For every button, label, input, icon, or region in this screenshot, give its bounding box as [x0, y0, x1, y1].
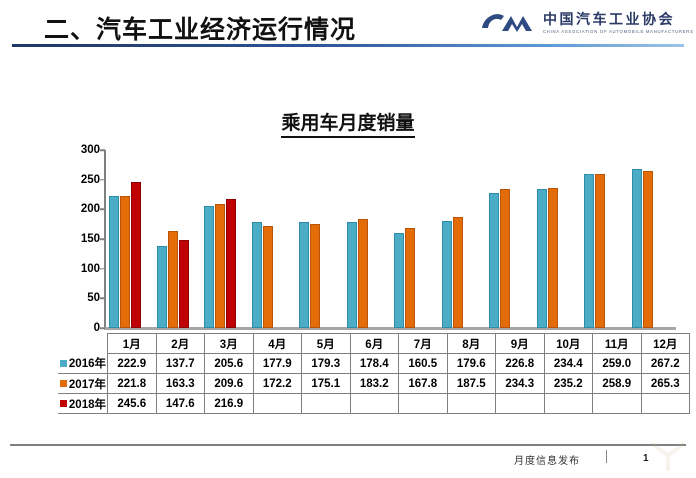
table-header-month: 6月 — [350, 334, 399, 354]
bar-group — [439, 150, 487, 328]
table-header-month: 9月 — [496, 334, 545, 354]
chart-data-table: 1月2月3月4月5月6月7月8月9月10月11月12月 2016年222.913… — [58, 333, 690, 414]
table-row: 2018年245.6147.6216.9 — [58, 394, 690, 414]
table-cell-value — [544, 394, 593, 414]
table-cell-value: 172.2 — [253, 374, 302, 394]
logo-chinese-name: 中国汽车工业协会 — [543, 12, 691, 27]
table-cell-value — [350, 394, 399, 414]
table-header-month: 3月 — [205, 334, 254, 354]
bar-groups — [106, 150, 676, 328]
table-header-month: 8月 — [447, 334, 496, 354]
bar-2016年-3月[interactable] — [204, 206, 214, 328]
table-cell-value: 179.6 — [447, 354, 496, 374]
bar-2016年-2月[interactable] — [157, 246, 167, 328]
bar-2017年-2月[interactable] — [168, 231, 178, 328]
table-cell-value: 245.6 — [108, 394, 157, 414]
bar-2017年-9月[interactable] — [500, 189, 510, 328]
footer-separator — [606, 450, 607, 463]
table-header-month: 4月 — [253, 334, 302, 354]
bar-2017年-8月[interactable] — [453, 217, 463, 328]
legend-series-label: 2018年 — [69, 399, 106, 411]
table-cell-value: 258.9 — [593, 374, 642, 394]
table-cell-value: 209.6 — [205, 374, 254, 394]
legend-swatch-icon — [60, 360, 67, 367]
table-header-month: 12月 — [641, 334, 690, 354]
table-cell-value — [447, 394, 496, 414]
association-logo: 中国汽车工业协会 CHINA ASSOCIATION OF AUTOMOBILE… — [480, 9, 691, 37]
table-cell-value: 267.2 — [641, 354, 690, 374]
table-header-month: 10月 — [544, 334, 593, 354]
table-cell-value: 187.5 — [447, 374, 496, 394]
table-cell-value: 265.3 — [641, 374, 690, 394]
slide-canvas: 二、汽车工业经济运行情况 中国汽车工业协会 CHINA ASSOCIATION … — [0, 0, 696, 478]
bar-group — [391, 150, 439, 328]
table-cell-value: 167.8 — [399, 374, 448, 394]
table-cell-value: 179.3 — [302, 354, 351, 374]
table-cell-value: 178.4 — [350, 354, 399, 374]
table-cell-value: 147.6 — [156, 394, 205, 414]
bar-group — [154, 150, 202, 328]
bar-2018年-1月[interactable] — [131, 182, 141, 328]
table-cell-value: 160.5 — [399, 354, 448, 374]
table-cell-value — [399, 394, 448, 414]
bar-2016年-10月[interactable] — [537, 189, 547, 328]
legend-item-2017年[interactable]: 2017年 — [58, 374, 108, 394]
table-row: 2016年222.9137.7205.6177.9179.3178.4160.5… — [58, 354, 690, 374]
table-cell-value — [253, 394, 302, 414]
legend-swatch-icon — [60, 400, 67, 407]
bar-group — [629, 150, 677, 328]
page-number: 1 — [643, 453, 649, 464]
bar-group — [534, 150, 582, 328]
bar-2016年-7月[interactable] — [394, 233, 404, 328]
table-cell-value: 221.8 — [108, 374, 157, 394]
table-cell-value: 175.1 — [302, 374, 351, 394]
y-axis-labels: 050100150200250300 — [60, 146, 100, 328]
legend-item-2016年[interactable]: 2016年 — [58, 354, 108, 374]
bar-group — [106, 150, 154, 328]
y-axis-tick-label: 300 — [81, 144, 100, 156]
y-axis-tick-label: 100 — [81, 263, 100, 275]
bar-2017年-4月[interactable] — [263, 226, 273, 328]
logo-english-name: CHINA ASSOCIATION OF AUTOMOBILE MANUFACT… — [543, 29, 694, 34]
legend-header-cell — [58, 334, 108, 354]
bar-2017年-6月[interactable] — [358, 219, 368, 328]
bar-group — [249, 150, 297, 328]
bar-2017年-7月[interactable] — [405, 228, 415, 328]
bar-2017年-12月[interactable] — [643, 171, 653, 328]
table-row: 2017年221.8163.3209.6172.2175.1183.2167.8… — [58, 374, 690, 394]
y-axis-tick-label: 250 — [81, 174, 100, 186]
table-cell-value: 163.3 — [156, 374, 205, 394]
table-cell-value — [496, 394, 545, 414]
legend-item-2018年[interactable]: 2018年 — [58, 394, 108, 414]
legend-series-label: 2017年 — [69, 379, 106, 391]
bar-2017年-5月[interactable] — [310, 224, 320, 328]
bar-group — [296, 150, 344, 328]
y-axis-tick-mark — [100, 238, 105, 240]
table-header-month: 7月 — [399, 334, 448, 354]
watermark-icon — [646, 437, 690, 475]
table-header-row: 1月2月3月4月5月6月7月8月9月10月11月12月 — [58, 334, 690, 354]
table-cell-value: 183.2 — [350, 374, 399, 394]
y-axis-tick-mark — [100, 298, 105, 300]
bar-2017年-11月[interactable] — [595, 174, 605, 328]
bar-2016年-11月[interactable] — [584, 174, 594, 328]
table-cell-value: 205.6 — [205, 354, 254, 374]
y-axis-tick-mark — [100, 268, 105, 270]
bar-2016年-12月[interactable] — [632, 169, 642, 328]
legend-swatch-icon — [60, 380, 67, 387]
bar-group — [201, 150, 249, 328]
bar-2016年-1月[interactable] — [109, 196, 119, 328]
bar-group — [581, 150, 629, 328]
table-cell-value — [593, 394, 642, 414]
y-axis-tick-mark — [100, 179, 105, 181]
bar-2016年-6月[interactable] — [347, 222, 357, 328]
bar-group — [486, 150, 534, 328]
chart-plot-area: 050100150200250300 — [60, 146, 680, 336]
bar-2018年-3月[interactable] — [226, 199, 236, 328]
bar-2018年-2月[interactable] — [179, 240, 189, 328]
table-cell-value: 216.9 — [205, 394, 254, 414]
footer-divider — [10, 444, 686, 446]
y-axis-tick-mark — [100, 209, 105, 211]
table-cell-value: 137.7 — [156, 354, 205, 374]
table-header-month: 1月 — [108, 334, 157, 354]
y-axis-tick-label: 50 — [87, 292, 100, 304]
table-cell-value: 226.8 — [496, 354, 545, 374]
bar-2016年-5月[interactable] — [299, 222, 309, 328]
bar-2017年-3月[interactable] — [215, 204, 225, 328]
table-cell-value: 222.9 — [108, 354, 157, 374]
legend-series-label: 2016年 — [69, 358, 106, 370]
table-cell-value: 259.0 — [593, 354, 642, 374]
y-axis-tick-label: 150 — [81, 233, 100, 245]
table-header-month: 5月 — [302, 334, 351, 354]
footer-label: 月度信息发布 — [514, 452, 580, 467]
header-divider — [12, 44, 684, 47]
bar-2017年-1月[interactable] — [120, 196, 130, 328]
bar-group — [344, 150, 392, 328]
table-cell-value: 177.9 — [253, 354, 302, 374]
table-cell-value: 234.3 — [496, 374, 545, 394]
table-header-month: 11月 — [593, 334, 642, 354]
page-title: 二、汽车工业经济运行情况 — [44, 10, 356, 46]
bar-2017年-10月[interactable] — [548, 188, 558, 328]
cam-logo-icon — [480, 9, 536, 37]
table-cell-value: 235.2 — [544, 374, 593, 394]
y-axis-tick-label: 200 — [81, 203, 100, 215]
table-cell-value — [641, 394, 690, 414]
y-axis-tick-mark — [100, 327, 105, 329]
table-body: 2016年222.9137.7205.6177.9179.3178.4160.5… — [58, 354, 690, 414]
table-header-month: 2月 — [156, 334, 205, 354]
bar-2016年-4月[interactable] — [252, 222, 262, 328]
bar-2016年-8月[interactable] — [442, 221, 452, 328]
table-cell-value — [302, 394, 351, 414]
chart-title-text: 乘用车月度销量 — [281, 113, 414, 138]
table-cell-value: 234.4 — [544, 354, 593, 374]
chart-title: 乘用车月度销量 — [0, 108, 696, 135]
y-axis-tick-mark — [100, 149, 105, 151]
bar-2016年-9月[interactable] — [489, 193, 499, 328]
